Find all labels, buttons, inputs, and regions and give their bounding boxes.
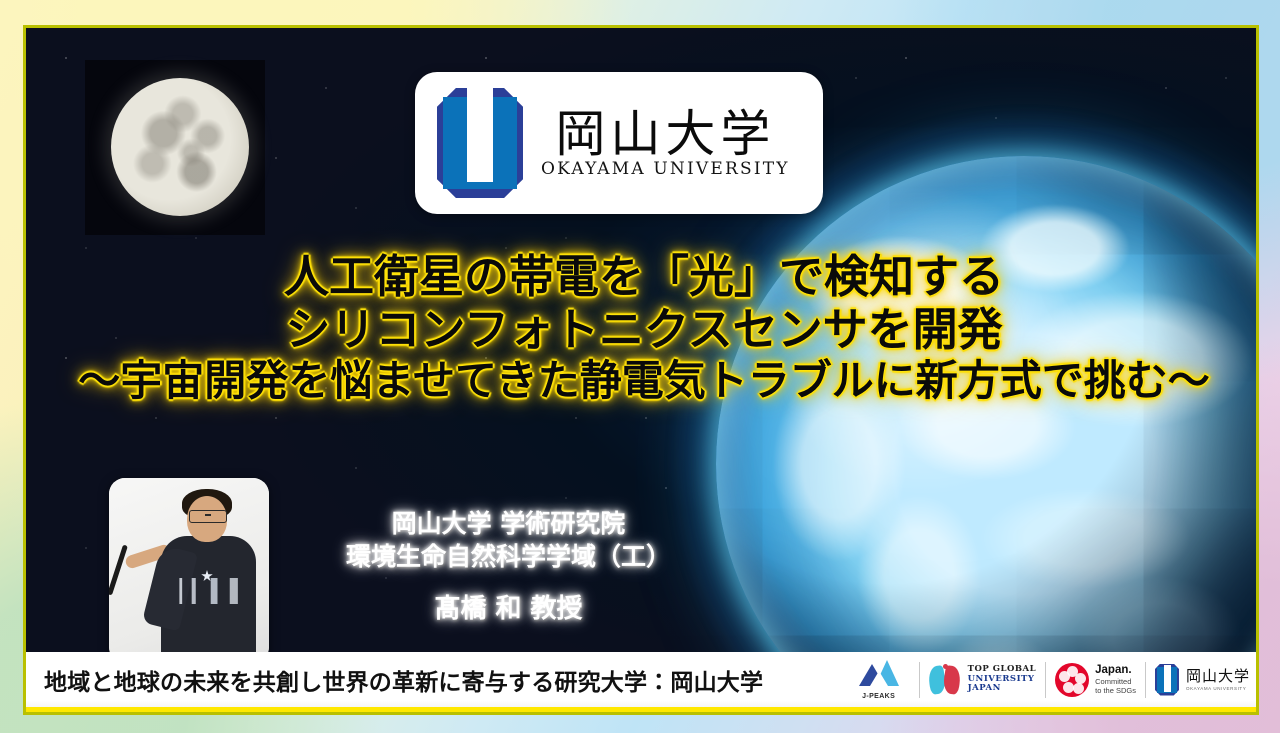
butterfly-icon bbox=[929, 663, 963, 697]
footer-logo-group: J-PEAKS TOP GLOBAL UNIVERSITY JAPAN bbox=[848, 658, 1250, 702]
sdgs-line-1: Japan. bbox=[1095, 664, 1136, 678]
ou-small-name-ja: 岡山大学 bbox=[1186, 668, 1250, 685]
moon-photo bbox=[85, 60, 265, 235]
university-wordmark: 岡山大学 OKAYAMA UNIVERSITY bbox=[541, 109, 790, 178]
presenter-name: 髙橋 和 教授 bbox=[281, 593, 736, 627]
earth-terminator-shadow bbox=[716, 156, 1259, 715]
cherry-blossom-sun-icon bbox=[1055, 663, 1089, 697]
shirt-print bbox=[175, 578, 243, 604]
moon-disc bbox=[111, 78, 249, 216]
logo-okayama-university: 岡山大学 OKAYAMA UNIVERSITY bbox=[1155, 658, 1250, 702]
logo-divider bbox=[919, 662, 920, 698]
logo-divider bbox=[1045, 662, 1046, 698]
title-line-3: 〜宇宙開発を悩ませてきた静電気トラブルに新方式で挑む〜 bbox=[26, 356, 1259, 406]
university-logo-card: 岡山大学 OKAYAMA UNIVERSITY bbox=[415, 72, 823, 214]
slide-title: 人工衛星の帯電を「光」で検知する シリコンフォトニクスセンサを開発 〜宇宙開発を… bbox=[26, 250, 1259, 406]
glasses-icon bbox=[189, 510, 227, 523]
mountain-peaks-icon bbox=[859, 659, 899, 686]
university-name-ja: 岡山大学 bbox=[555, 109, 775, 159]
okayama-university-mark-icon bbox=[437, 88, 523, 198]
presenter-portrait bbox=[109, 478, 269, 663]
sdgs-line-2: Committed bbox=[1095, 677, 1136, 686]
logo-japan-sdgs: Japan. Committed to the SDGs bbox=[1055, 658, 1136, 702]
logo-top-global-university: TOP GLOBAL UNIVERSITY JAPAN bbox=[929, 658, 1036, 702]
slide-frame: 岡山大学 OKAYAMA UNIVERSITY 人工衛星の帯電を「光」で検知する… bbox=[0, 0, 1280, 733]
tgu-line-3: JAPAN bbox=[968, 684, 1036, 694]
title-line-2: シリコンフォトニクスセンサを開発 bbox=[26, 303, 1259, 356]
earth-sphere bbox=[716, 156, 1259, 715]
logo-divider bbox=[1145, 662, 1146, 698]
presenter-affiliation-line-2: 環境生命自然科学学域（工） bbox=[281, 541, 736, 574]
logo-j-peaks-label: J-PEAKS bbox=[862, 693, 895, 700]
university-name-en: OKAYAMA UNIVERSITY bbox=[541, 161, 790, 178]
earth-limb-highlight bbox=[716, 156, 1259, 715]
presenter-info: 岡山大学 学術研究院 環境生命自然科学学域（工） 髙橋 和 教授 bbox=[281, 508, 736, 627]
logo-j-peaks: J-PEAKS bbox=[848, 658, 910, 702]
presenter-affiliation-line-1: 岡山大学 学術研究院 bbox=[281, 508, 736, 541]
footer-tagline: 地域と地球の未来を共創し世界の革新に寄与する研究大学：岡山大学 bbox=[44, 663, 763, 697]
okayama-university-mark-icon bbox=[1155, 664, 1179, 696]
ou-small-name-en: OKAYAMA UNIVERSITY bbox=[1186, 686, 1250, 691]
slide-stage: 岡山大学 OKAYAMA UNIVERSITY 人工衛星の帯電を「光」で検知する… bbox=[23, 25, 1259, 715]
title-line-1: 人工衛星の帯電を「光」で検知する bbox=[26, 250, 1259, 303]
sdgs-line-3: to the SDGs bbox=[1095, 686, 1136, 695]
earth-landmass bbox=[716, 156, 1259, 715]
footer-bar: 地域と地球の未来を共創し世界の革新に寄与する研究大学：岡山大学 J-PEAKS … bbox=[26, 652, 1259, 712]
